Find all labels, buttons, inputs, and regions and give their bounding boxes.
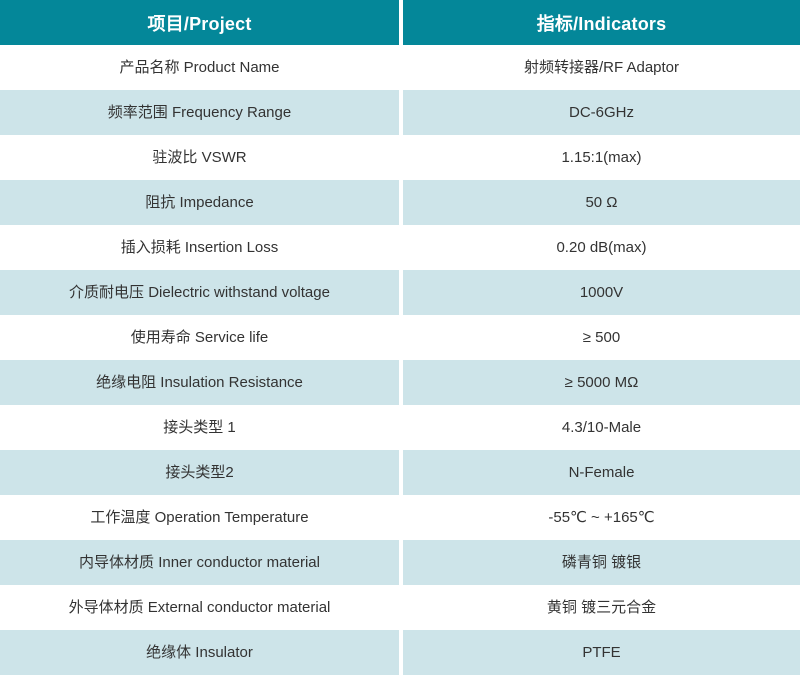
table-row: 接头类型2N-Female xyxy=(0,450,800,495)
cell-indicator: ≥ 500 xyxy=(403,315,800,360)
cell-project: 介质耐电压 Dielectric withstand voltage xyxy=(0,270,399,315)
cell-indicator: 4.3/10-Male xyxy=(403,405,800,450)
cell-indicator: -55℃ ~ +165℃ xyxy=(403,495,800,540)
table-row: 频率范围 Frequency RangeDC-6GHz xyxy=(0,90,800,135)
table-row: 使用寿命 Service life≥ 500 xyxy=(0,315,800,360)
cell-indicator: 1.15:1(max) xyxy=(403,135,800,180)
table-row: 内导体材质 Inner conductor material磷青铜 镀银 xyxy=(0,540,800,585)
column-header-project: 项目/Project xyxy=(0,0,399,45)
column-header-indicators: 指标/Indicators xyxy=(403,0,800,45)
cell-project: 产品名称 Product Name xyxy=(0,45,399,90)
cell-indicator: 0.20 dB(max) xyxy=(403,225,800,270)
cell-indicator: 黄铜 镀三元合金 xyxy=(403,585,800,630)
cell-project: 绝缘电阻 Insulation Resistance xyxy=(0,360,399,405)
cell-project: 驻波比 VSWR xyxy=(0,135,399,180)
cell-project: 内导体材质 Inner conductor material xyxy=(0,540,399,585)
table-row: 绝缘体 InsulatorPTFE xyxy=(0,630,800,675)
table-row: 接头类型 14.3/10-Male xyxy=(0,405,800,450)
cell-project: 工作温度 Operation Temperature xyxy=(0,495,399,540)
cell-indicator: 1000V xyxy=(403,270,800,315)
table-header: 项目/Project 指标/Indicators xyxy=(0,0,800,45)
cell-indicator: DC-6GHz xyxy=(403,90,800,135)
table-row: 介质耐电压 Dielectric withstand voltage1000V xyxy=(0,270,800,315)
table-row: 绝缘电阻 Insulation Resistance≥ 5000 MΩ xyxy=(0,360,800,405)
cell-project: 外导体材质 External conductor material xyxy=(0,585,399,630)
cell-indicator: 50 Ω xyxy=(403,180,800,225)
cell-project: 接头类型2 xyxy=(0,450,399,495)
specifications-table: 项目/Project 指标/Indicators 产品名称 Product Na… xyxy=(0,0,800,675)
table-row: 外导体材质 External conductor material黄铜 镀三元合… xyxy=(0,585,800,630)
table-body: 产品名称 Product Name射频转接器/RF Adaptor频率范围 Fr… xyxy=(0,45,800,675)
cell-project: 插入损耗 Insertion Loss xyxy=(0,225,399,270)
cell-indicator: 射频转接器/RF Adaptor xyxy=(403,45,800,90)
cell-indicator: 磷青铜 镀银 xyxy=(403,540,800,585)
table-row: 插入损耗 Insertion Loss0.20 dB(max) xyxy=(0,225,800,270)
cell-project: 使用寿命 Service life xyxy=(0,315,399,360)
table-row: 产品名称 Product Name射频转接器/RF Adaptor xyxy=(0,45,800,90)
cell-indicator: N-Female xyxy=(403,450,800,495)
table-row: 阻抗 Impedance50 Ω xyxy=(0,180,800,225)
cell-project: 阻抗 Impedance xyxy=(0,180,399,225)
cell-indicator: PTFE xyxy=(403,630,800,675)
table-row: 驻波比 VSWR1.15:1(max) xyxy=(0,135,800,180)
table-row: 工作温度 Operation Temperature-55℃ ~ +165℃ xyxy=(0,495,800,540)
cell-project: 频率范围 Frequency Range xyxy=(0,90,399,135)
cell-project: 绝缘体 Insulator xyxy=(0,630,399,675)
cell-indicator: ≥ 5000 MΩ xyxy=(403,360,800,405)
cell-project: 接头类型 1 xyxy=(0,405,399,450)
header-row: 项目/Project 指标/Indicators xyxy=(0,0,800,45)
